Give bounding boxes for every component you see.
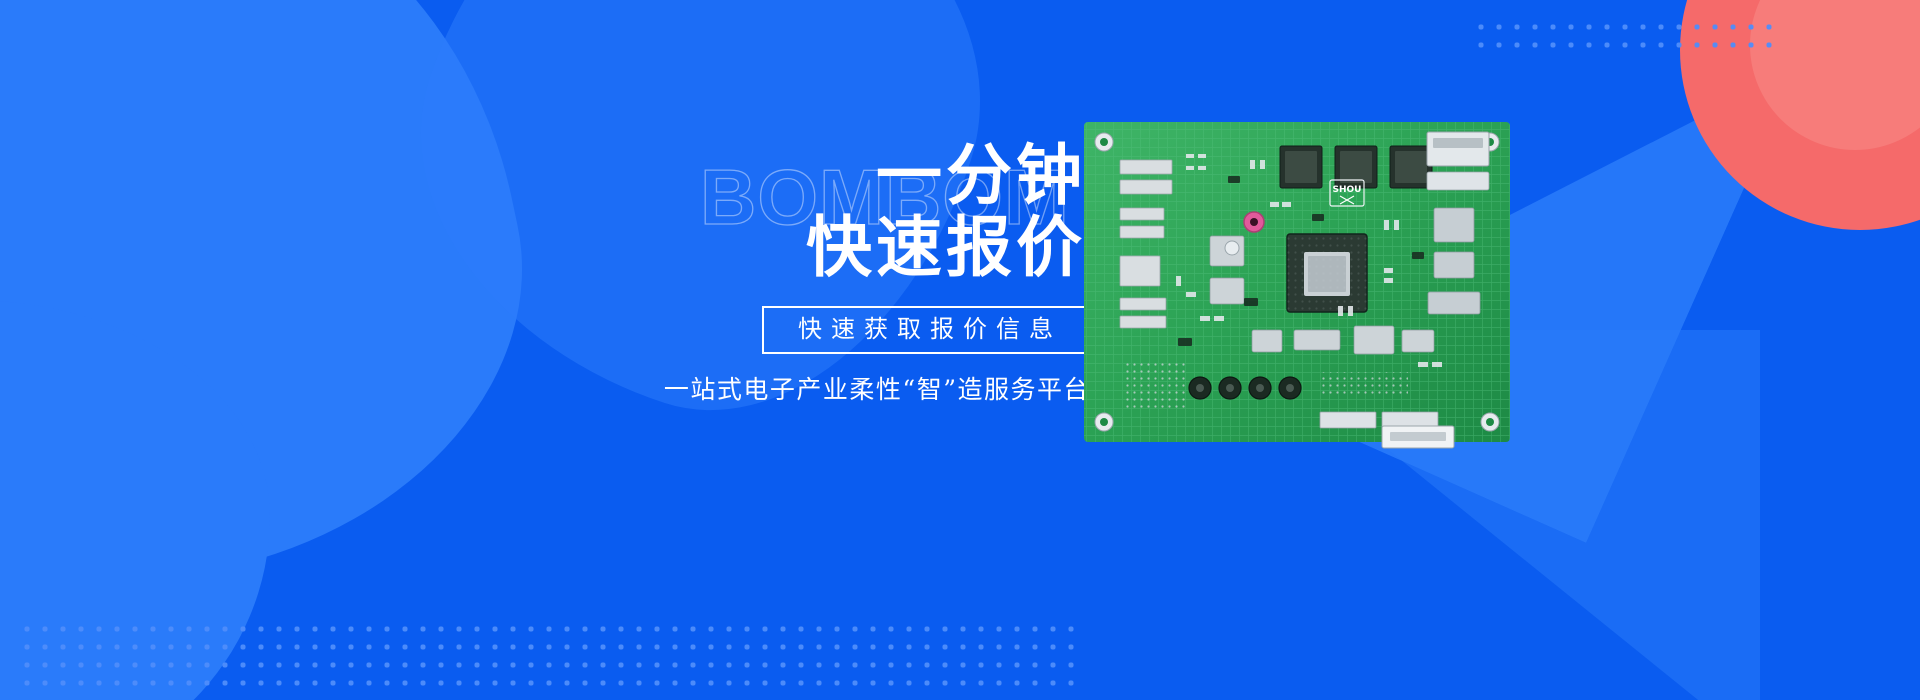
headline-line-1: 一分钟 — [660, 140, 1086, 212]
pcb-board-image: SHOU — [1082, 116, 1512, 456]
page-title: 一分钟 快速报价 — [660, 140, 1090, 284]
dot-grid-bottom-left — [18, 620, 1078, 694]
pcb-illustration: SHOU — [1082, 116, 1512, 456]
promo-banner: BOMBOM 一分钟 快速报价 快速获取报价信息 一站式电子产业柔性“智”造服务… — [0, 0, 1920, 700]
dot-grid-top-right — [1472, 18, 1772, 54]
svg-text:SHOU: SHOU — [1333, 185, 1362, 195]
tagline: 一站式电子产业柔性“智”造服务平台 — [660, 370, 1090, 406]
headline-block: BOMBOM 一分钟 快速报价 快速获取报价信息 一站式电子产业柔性“智”造服务… — [660, 140, 1090, 406]
headline-line-2: 快速报价 — [660, 212, 1086, 284]
get-quote-badge[interactable]: 快速获取报价信息 — [762, 306, 1090, 354]
